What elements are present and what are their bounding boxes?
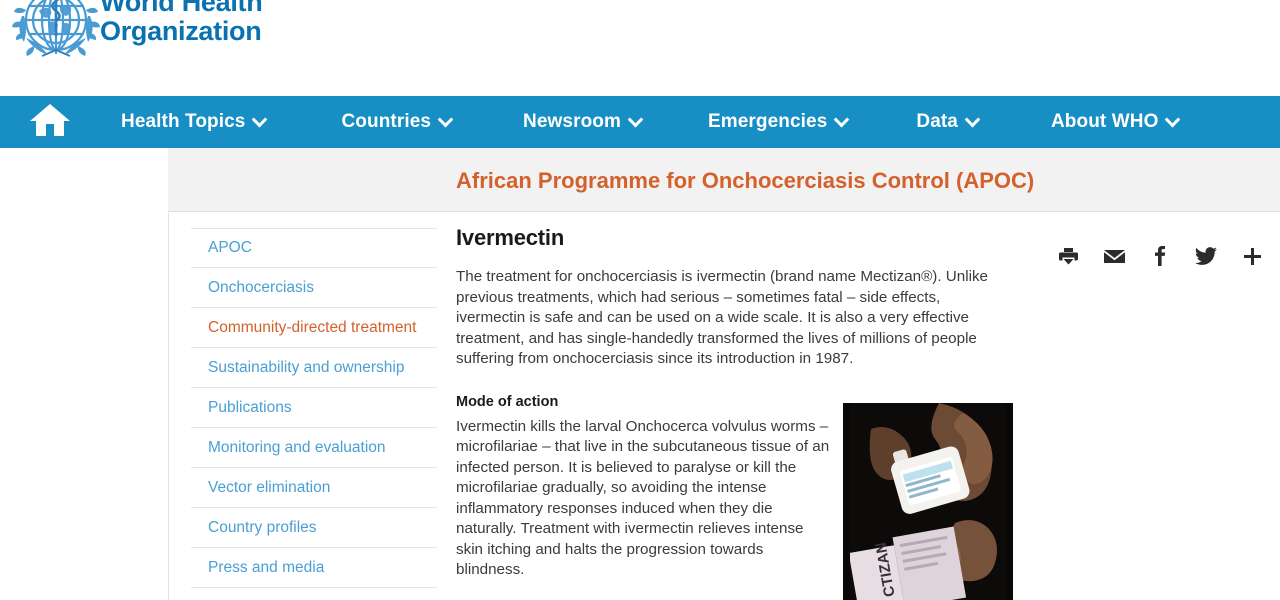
nav-item-label: Health Topics	[121, 111, 245, 133]
nav-item-countries[interactable]: Countries	[341, 96, 451, 148]
sidebar-item-label: Press and media	[208, 559, 324, 577]
sidebar-item-vector-elimination[interactable]: Vector elimination	[191, 468, 437, 508]
nav-item-about-who[interactable]: About WHO	[1051, 96, 1178, 148]
main-navigation: Health Topics Countries Newsroom Emergen…	[0, 96, 1280, 148]
sidebar-item-country-profiles[interactable]: Country profiles	[191, 508, 437, 548]
facebook-icon[interactable]	[1149, 245, 1171, 267]
sidebar-item-label: Monitoring and evaluation	[208, 439, 386, 457]
sidebar-item-label: Vector elimination	[208, 479, 330, 497]
home-icon	[29, 102, 71, 143]
masthead: World Health Organization	[0, 0, 1280, 96]
nav-item-health-topics[interactable]: Health Topics	[121, 96, 265, 148]
sidebar-item-community-directed-treatment[interactable]: Community-directed treatment	[191, 308, 437, 348]
sidebar-item-publications[interactable]: Publications	[191, 388, 437, 428]
section-navigation: APOC Onchocerciasis Community-directed t…	[191, 228, 437, 588]
more-share-icon[interactable]	[1241, 245, 1263, 267]
nav-item-label: Data	[916, 111, 958, 133]
chevron-down-icon	[628, 111, 644, 127]
nav-item-label: Newsroom	[523, 111, 621, 133]
twitter-icon[interactable]	[1195, 245, 1217, 267]
page-body: APOC Onchocerciasis Community-directed t…	[168, 213, 1280, 600]
article-lead-paragraph: The treatment for onchocerciasis is iver…	[456, 267, 1012, 370]
who-wordmark: World Health Organization	[100, 0, 262, 46]
sidebar-item-label: Onchocerciasis	[208, 279, 314, 297]
nav-item-data[interactable]: Data	[916, 96, 978, 148]
nav-item-label: About WHO	[1051, 111, 1158, 133]
sidebar-item-label: Publications	[208, 399, 292, 417]
sidebar-item-label: Community-directed treatment	[208, 319, 416, 337]
sidebar-item-label: APOC	[208, 239, 252, 257]
email-icon[interactable]	[1103, 245, 1125, 267]
sidebar-item-label: Country profiles	[208, 519, 317, 537]
nav-item-emergencies[interactable]: Emergencies	[708, 96, 847, 148]
sidebar-item-apoc[interactable]: APOC	[191, 228, 437, 268]
chevron-down-icon	[252, 111, 268, 127]
nav-item-newsroom[interactable]: Newsroom	[523, 96, 641, 148]
sidebar-item-press-and-media[interactable]: Press and media	[191, 548, 437, 588]
sidebar-item-monitoring-and-evaluation[interactable]: Monitoring and evaluation	[191, 428, 437, 468]
chevron-down-icon	[834, 111, 850, 127]
nav-home-button[interactable]	[0, 96, 100, 148]
section-body-mode-of-action: Ivermectin kills the larval Onchocerca v…	[456, 417, 834, 581]
share-toolbar	[1057, 245, 1263, 267]
who-emblem-icon[interactable]	[12, 0, 100, 60]
chevron-down-icon	[1165, 111, 1181, 127]
article-title: Ivermectin	[456, 225, 1016, 251]
mectizan-photo: CTIZAN	[843, 403, 1013, 600]
page-title: African Programme for Onchocerciasis Con…	[456, 168, 1034, 194]
chevron-down-icon	[965, 111, 981, 127]
left-gutter	[0, 148, 168, 600]
nav-item-label: Emergencies	[708, 111, 827, 133]
sidebar-item-onchocerciasis[interactable]: Onchocerciasis	[191, 268, 437, 308]
programme-title-band: African Programme for Onchocerciasis Con…	[168, 148, 1280, 212]
sidebar-item-sustainability-and-ownership[interactable]: Sustainability and ownership	[191, 348, 437, 388]
sidebar-item-label: Sustainability and ownership	[208, 359, 404, 377]
print-icon[interactable]	[1057, 245, 1079, 267]
nav-item-label: Countries	[341, 111, 431, 133]
chevron-down-icon	[438, 111, 454, 127]
